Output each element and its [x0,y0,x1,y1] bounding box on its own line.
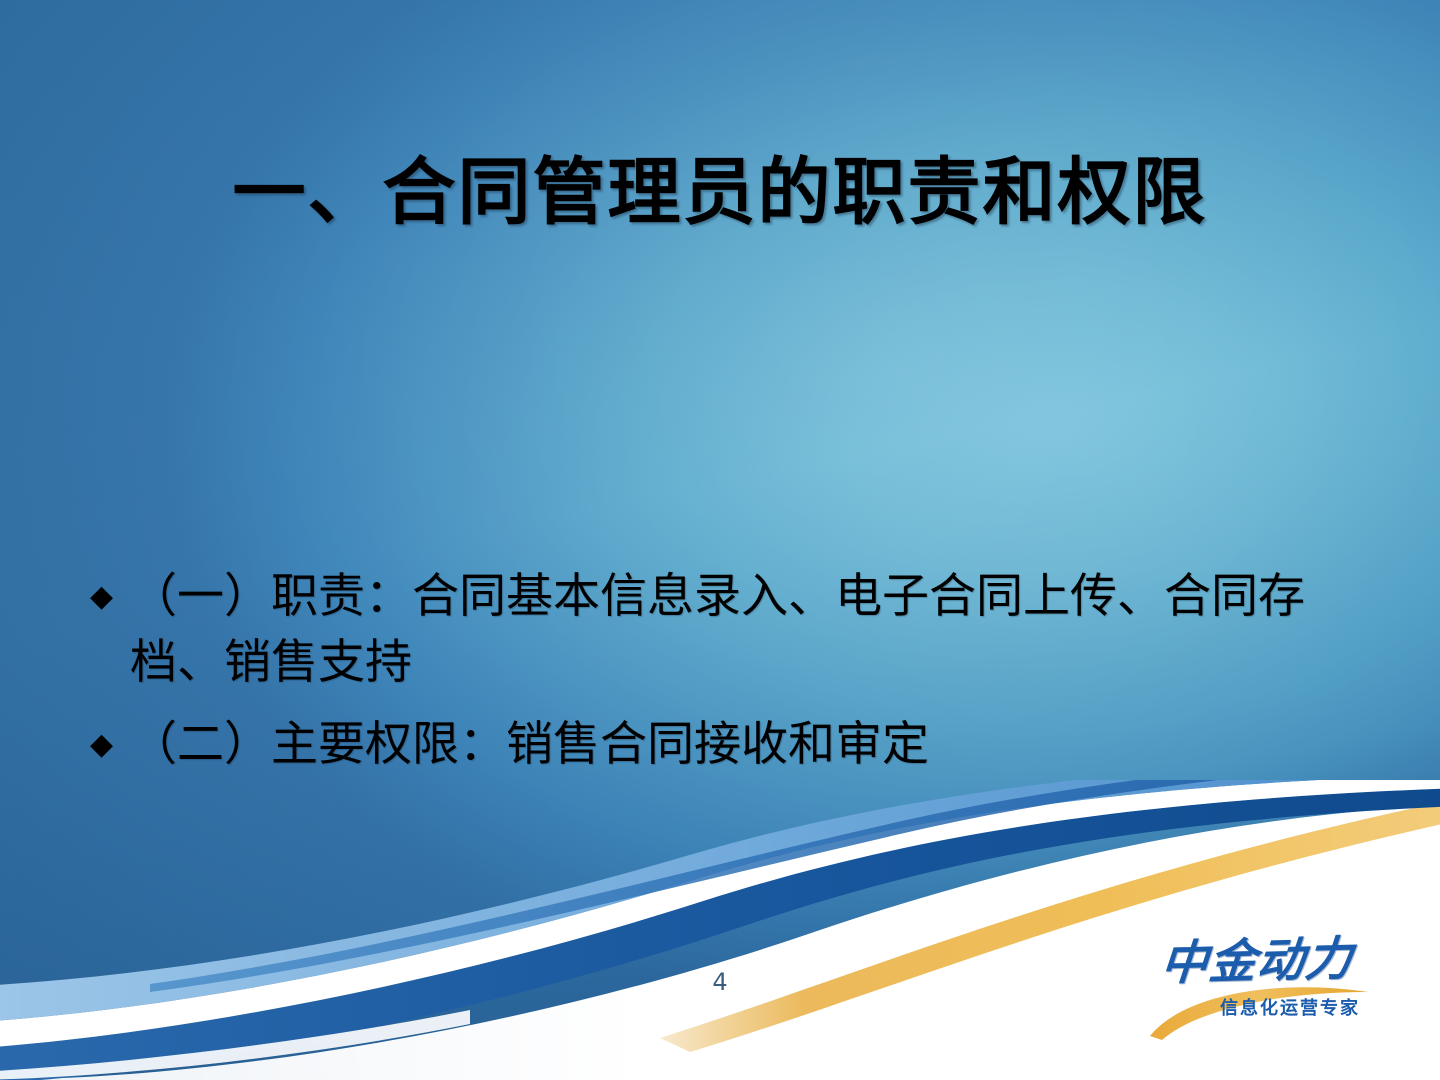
page-number: 4 [690,968,750,996]
slide-canvas: 一、合同管理员的职责和权限 ◆ （一）职责：合同基本信息录入、电子合同上传、合同… [0,0,1440,1080]
logo-tagline: 信息化运营专家 [1188,1000,1392,1018]
list-item: ◆ （一）职责：合同基本信息录入、电子合同上传、合同存档、销售支持 [84,564,1374,696]
diamond-bullet-icon: ◆ [84,712,130,778]
bullet-list: ◆ （一）职责：合同基本信息录入、电子合同上传、合同存档、销售支持 ◆ （二）主… [84,564,1374,794]
bullet-text-responsibilities: （一）职责：合同基本信息录入、电子合同上传、合同存档、销售支持 [130,564,1374,696]
bullet-text-authority: （二）主要权限：销售合同接收和审定 [130,712,1374,778]
logo-wordmark: 中金动力 [1120,934,1394,988]
company-logo: 中金动力 信息化运营专家 [1122,936,1392,1046]
page-title: 一、合同管理员的职责和权限 [0,152,1440,234]
list-item: ◆ （二）主要权限：销售合同接收和审定 [84,712,1374,778]
diamond-bullet-icon: ◆ [84,564,130,630]
